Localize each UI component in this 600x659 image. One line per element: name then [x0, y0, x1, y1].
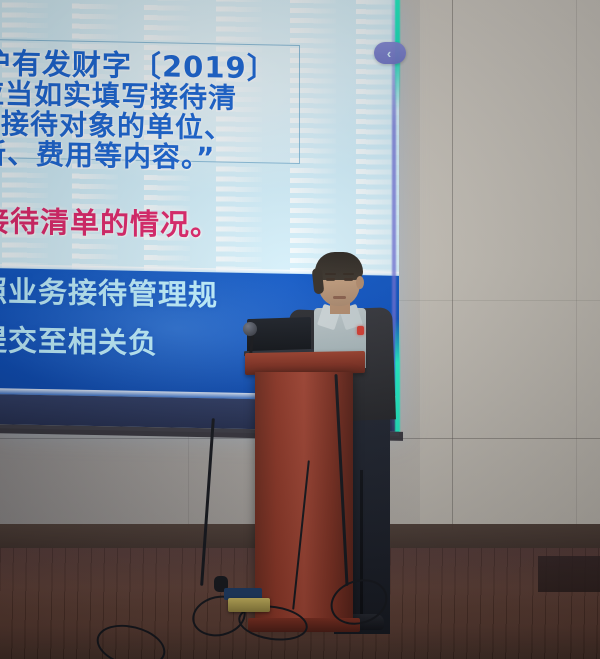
chevron-left-icon: ‹ [387, 47, 391, 60]
wall-panel-seam [576, 0, 577, 530]
wall-panel-seam [452, 0, 453, 530]
presentation-photo: 沪有发财字〔2019〕 应当如实填写接待清 括接待对象的单位、 所、费用等内容。… [0, 0, 600, 659]
speaker-mouth [333, 296, 346, 299]
microphone-head [243, 322, 257, 336]
speaker-ear [356, 276, 364, 289]
wall-panel-seam [188, 432, 189, 528]
speaker-badge [357, 326, 364, 335]
screen-edge-fringe-green [395, 0, 400, 432]
speaker-eyebrow-right [343, 273, 354, 275]
slide-highlight-line: 接待清单的情况。 [0, 207, 220, 241]
slide-blue-line-1: 照业务接待管理规 [0, 277, 218, 311]
power-strip [228, 598, 270, 612]
speaker-eyebrow-left [325, 273, 336, 275]
floor-recess [538, 556, 600, 592]
collapse-panel-tab[interactable]: ‹ [374, 42, 406, 64]
speaker-eye-right [344, 278, 353, 281]
slide-quote-line-4: 所、费用等内容。” [0, 140, 215, 173]
slide-blue-line-2: 提交至相关负 [0, 326, 158, 358]
speaker-eye-left [326, 278, 335, 281]
laptop-screen [247, 317, 311, 353]
